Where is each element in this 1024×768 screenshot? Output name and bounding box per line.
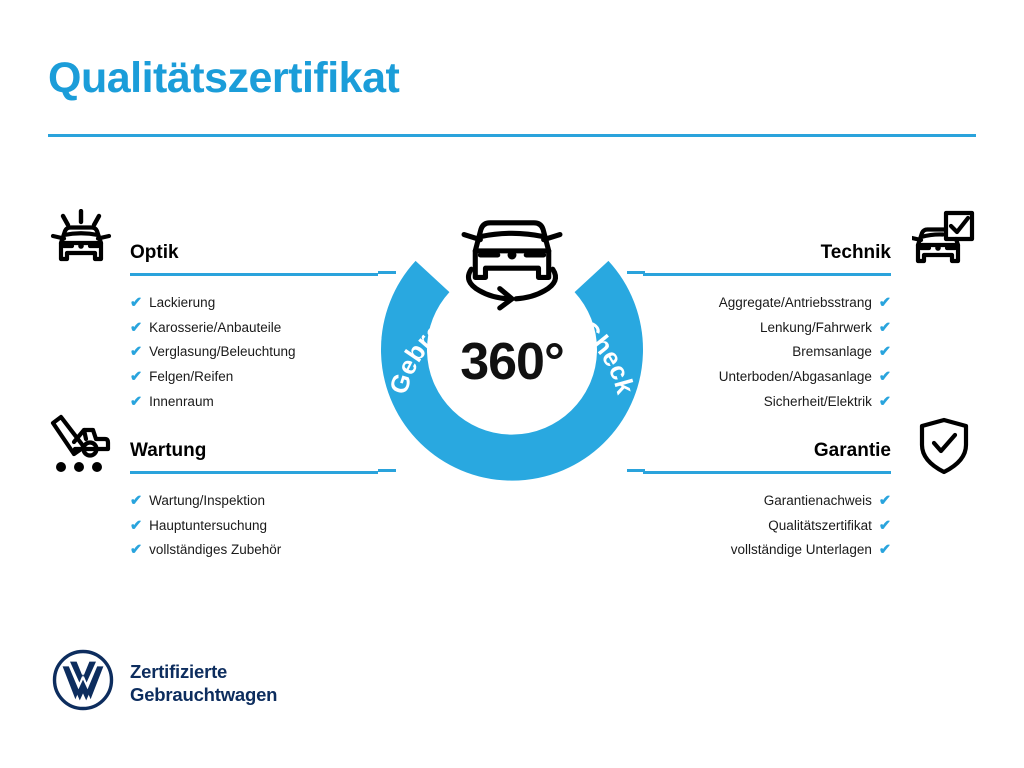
section-divider-garantie — [643, 471, 891, 474]
list-item-label: Innenraum — [149, 390, 214, 414]
list-item: ✔Verglasung/Beleuchtung — [130, 340, 378, 365]
shield-check-icon — [918, 417, 970, 480]
list-item: ✔Wartung/Inspektion — [130, 489, 378, 514]
list-item-label: Hauptuntersuchung — [149, 514, 267, 538]
car-shine-icon — [48, 209, 114, 276]
list-item: ✔Hauptuntersuchung — [130, 514, 378, 539]
check-icon: ✔ — [130, 515, 142, 539]
section-divider-wartung — [130, 471, 378, 474]
list-item: ✔Karosserie/Anbauteile — [130, 316, 378, 341]
checklist-technik: Aggregate/Antriebsstrang✔ Lenkung/Fahrwe… — [643, 291, 891, 415]
badge-center-value: 360° — [460, 333, 564, 391]
list-item-label: Aggregate/Antriebsstrang — [719, 291, 872, 315]
check-icon: ✔ — [130, 490, 142, 514]
section-technik: Technik Aggregate/Antriebsstrang✔ Lenkun… — [643, 243, 891, 415]
check-icon: ✔ — [130, 341, 142, 365]
check-icon: ✔ — [130, 292, 142, 316]
checklist-wartung: ✔Wartung/Inspektion ✔Hauptuntersuchung ✔… — [130, 489, 378, 563]
list-item-label: Wartung/Inspektion — [149, 489, 265, 513]
divider-stub-left-top — [378, 271, 396, 274]
check-icon: ✔ — [879, 366, 891, 390]
title-divider — [48, 134, 976, 137]
list-item-label: Garantienachweis — [764, 489, 872, 513]
list-item-label: Bremsanlage — [792, 340, 872, 364]
divider-stub-left-bottom — [378, 469, 396, 472]
list-item-label: Lenkung/Fahrwerk — [760, 316, 872, 340]
check-icon: ✔ — [879, 391, 891, 415]
section-title-optik: Optik — [130, 243, 378, 264]
check-icon: ✔ — [130, 391, 142, 415]
check-icon: ✔ — [130, 366, 142, 390]
footer-brand-text: Zertifizierte Gebrauchtwagen — [130, 660, 277, 706]
section-optik: Optik ✔Lackierung ✔Karosserie/Anbauteile… — [130, 243, 378, 415]
check-icon: ✔ — [879, 341, 891, 365]
car-checkbox-icon — [912, 209, 976, 276]
car-service-lift-icon — [48, 413, 114, 480]
list-item-label: Lackierung — [149, 291, 215, 315]
list-item: vollständige Unterlagen✔ — [643, 538, 891, 563]
list-item-label: Qualitätszertifikat — [768, 514, 872, 538]
checklist-garantie: Garantienachweis✔ Qualitätszertifikat✔ v… — [643, 489, 891, 563]
check-icon: ✔ — [879, 317, 891, 341]
footer-line-1: Zertifizierte — [130, 660, 277, 683]
section-wartung: Wartung ✔Wartung/Inspektion ✔Hauptunters… — [130, 441, 378, 563]
certificate-page: Qualitätszertifikat — [0, 0, 1024, 768]
footer-line-2: Gebrauchtwagen — [130, 683, 277, 706]
list-item: Qualitätszertifikat✔ — [643, 514, 891, 539]
page-title: Qualitätszertifikat — [48, 54, 399, 103]
list-item-label: vollständiges Zubehör — [149, 538, 281, 562]
list-item-label: Sicherheit/Elektrik — [764, 390, 872, 414]
list-item: ✔Lackierung — [130, 291, 378, 316]
list-item: Aggregate/Antriebsstrang✔ — [643, 291, 891, 316]
list-item: Garantienachweis✔ — [643, 489, 891, 514]
list-item-label: Karosserie/Anbauteile — [149, 316, 281, 340]
check-icon: ✔ — [879, 539, 891, 563]
check-icon: ✔ — [879, 490, 891, 514]
section-title-technik: Technik — [643, 243, 891, 264]
list-item: ✔vollständiges Zubehör — [130, 538, 378, 563]
footer-brand: Zertifizierte Gebrauchtwagen — [52, 649, 277, 716]
check-icon: ✔ — [130, 317, 142, 341]
list-item: ✔Innenraum — [130, 390, 378, 415]
list-item: Bremsanlage✔ — [643, 340, 891, 365]
vw-logo-icon — [52, 649, 114, 716]
list-item-label: Felgen/Reifen — [149, 365, 233, 389]
list-item: Unterboden/Abgasanlage✔ — [643, 365, 891, 390]
section-title-wartung: Wartung — [130, 441, 378, 462]
badge-360-check: Gebrauchtwagen-Check 360° — [372, 196, 652, 486]
list-item: ✔Felgen/Reifen — [130, 365, 378, 390]
check-icon: ✔ — [879, 292, 891, 316]
list-item: Lenkung/Fahrwerk✔ — [643, 316, 891, 341]
check-icon: ✔ — [879, 515, 891, 539]
checklist-optik: ✔Lackierung ✔Karosserie/Anbauteile ✔Verg… — [130, 291, 378, 415]
section-divider-optik — [130, 273, 378, 276]
list-item-label: vollständige Unterlagen — [731, 538, 872, 562]
list-item-label: Unterboden/Abgasanlage — [719, 365, 872, 389]
section-title-garantie: Garantie — [643, 441, 891, 462]
list-item-label: Verglasung/Beleuchtung — [149, 340, 295, 364]
list-item: Sicherheit/Elektrik✔ — [643, 390, 891, 415]
check-icon: ✔ — [130, 539, 142, 563]
section-divider-technik — [643, 273, 891, 276]
section-garantie: Garantie Garantienachweis✔ Qualitätszert… — [643, 441, 891, 563]
